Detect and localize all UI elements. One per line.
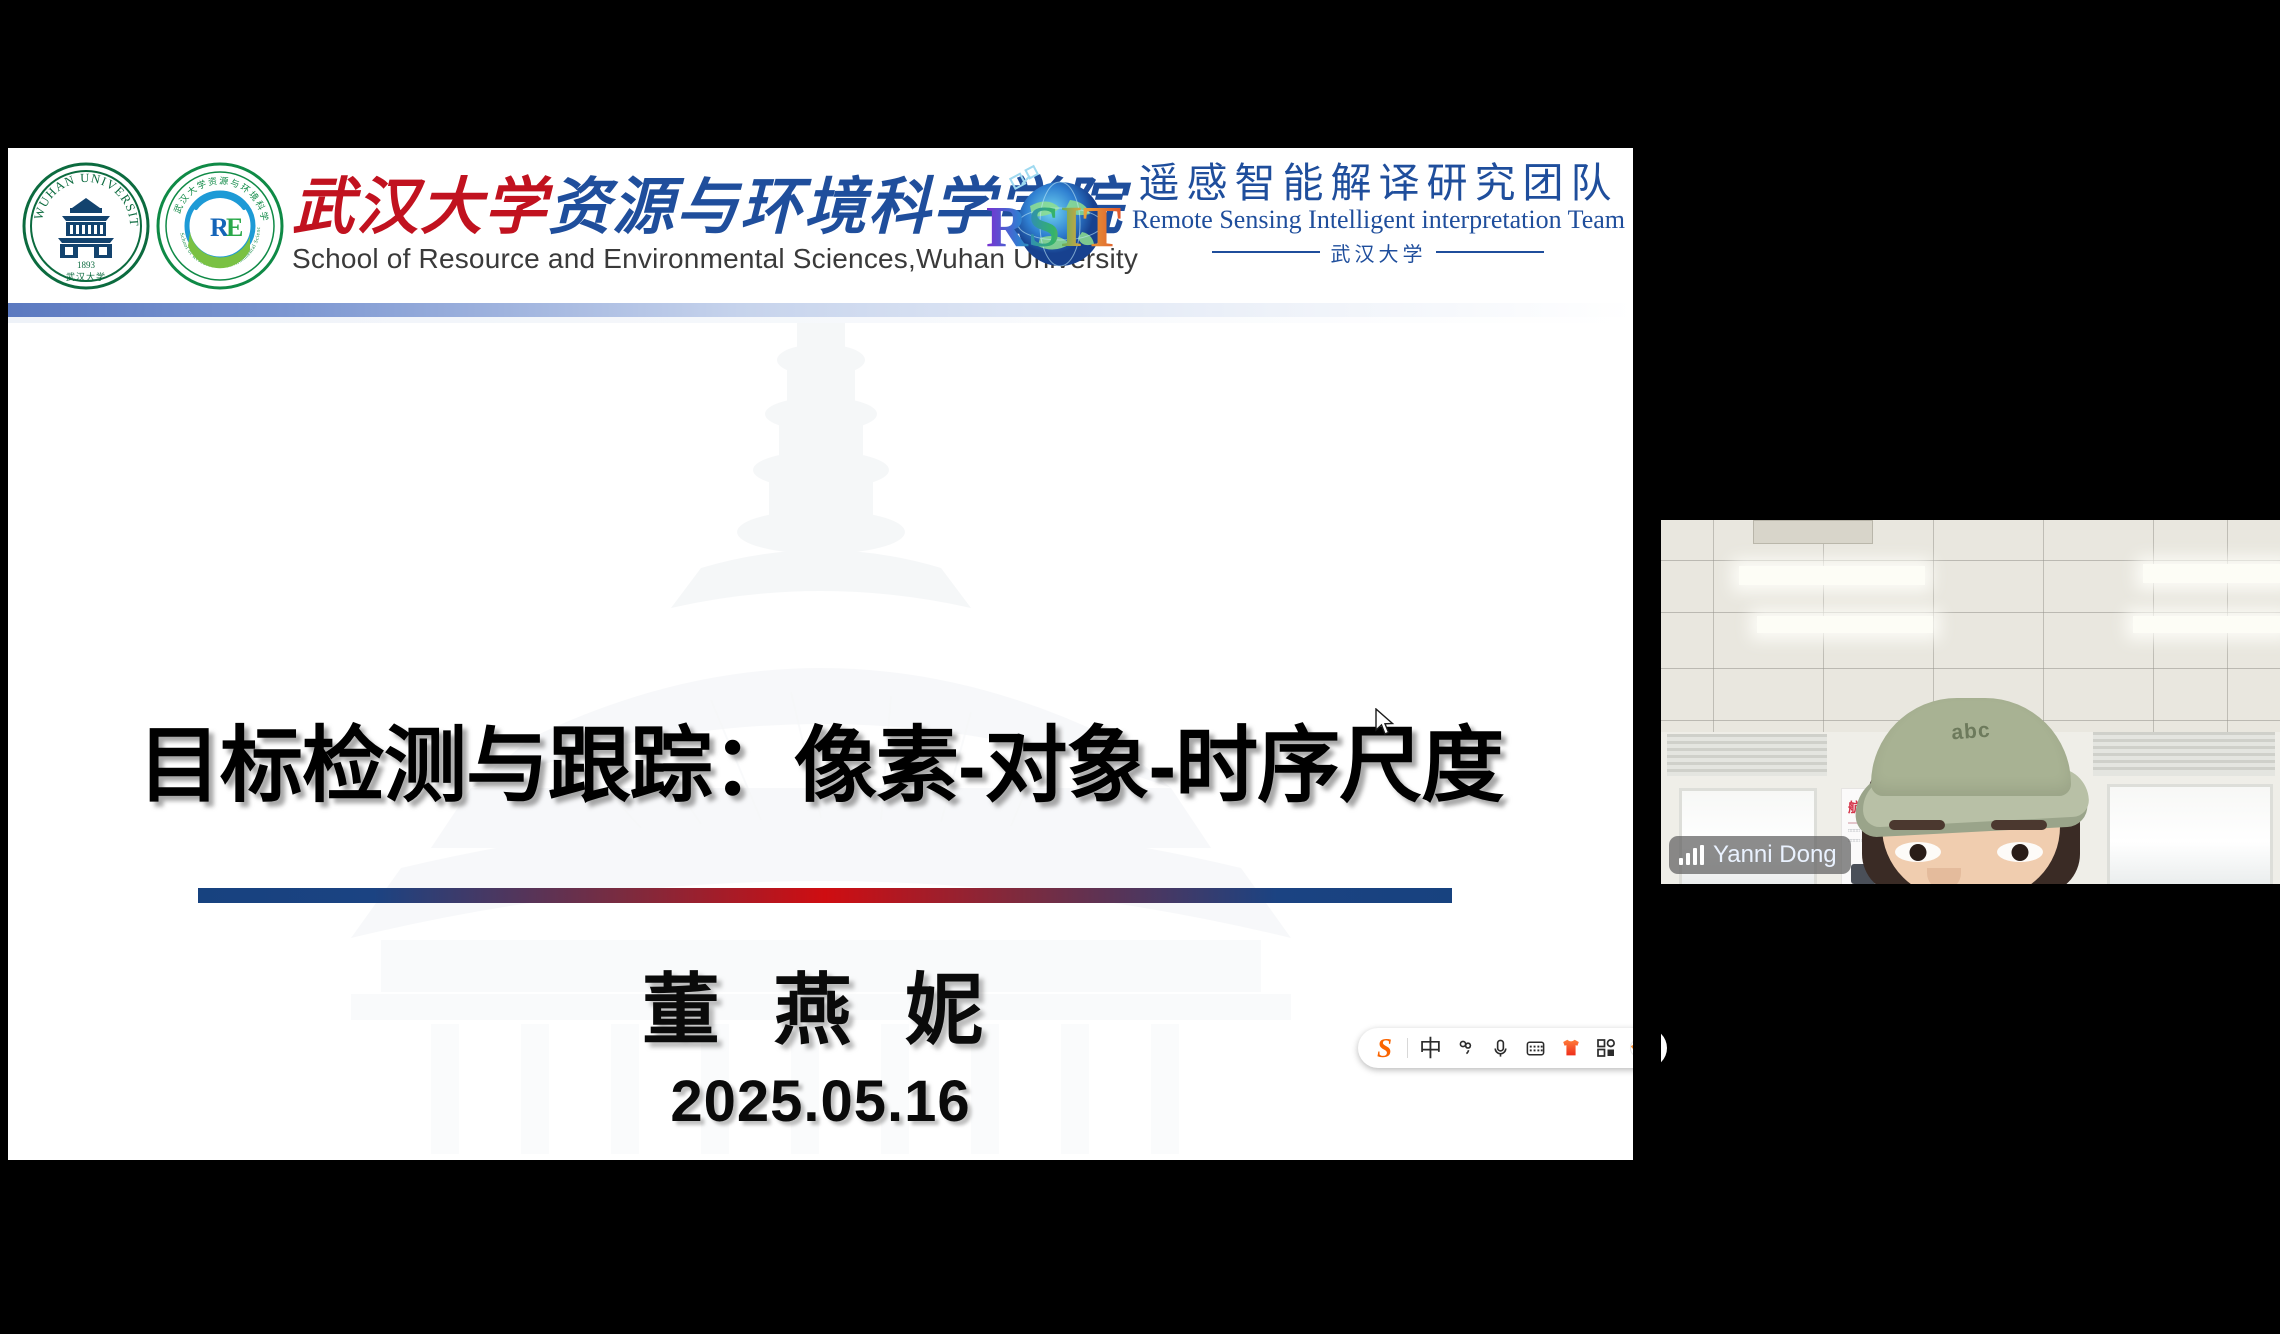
eye-right — [1997, 842, 2043, 862]
rsit-university: 武汉大学 — [1330, 238, 1426, 267]
participant-name: Yanni Dong — [1713, 841, 1837, 869]
eye-left — [1895, 842, 1941, 862]
slide-banner: WUHAN UNIVERSITY 1893 武汉大学 — [8, 148, 1633, 303]
participant-video-tile[interactable]: 航天系列讲座 □□□□ □□□□□ □□□□ □□□□ □□□□ □□□□□ a… — [1661, 520, 2280, 884]
participant-figure: abc — [1661, 520, 2280, 884]
banner-underline-secondary — [8, 317, 1633, 323]
punctuation-mode-button[interactable] — [1449, 1032, 1482, 1065]
eyebrow-left — [1889, 820, 1945, 830]
pane-divider[interactable] — [1633, 148, 1661, 1160]
school-name-cn-red: 武汉大学 — [292, 174, 548, 242]
screen-share-stage: WUHAN UNIVERSITY 1893 武汉大学 — [0, 0, 2280, 1334]
rsit-rule-left — [1212, 251, 1320, 253]
voice-input-button[interactable] — [1484, 1032, 1517, 1065]
sogou-logo-button[interactable]: S — [1368, 1032, 1401, 1065]
svg-text:E: E — [226, 213, 243, 242]
rsit-team-logo: RSIT 遥感智能解译研究团队 Remote Sensing Intellige… — [978, 162, 1625, 280]
participant-name-badge: Yanni Dong — [1669, 836, 1851, 874]
sogou-ime-toolbar[interactable]: S 中 — [1358, 1028, 1667, 1068]
keyboard-icon — [1525, 1038, 1546, 1059]
svg-text:RSIT: RSIT — [986, 194, 1121, 259]
nose — [1927, 868, 1961, 884]
language-mode-button[interactable]: 中 — [1414, 1032, 1447, 1065]
banner-underline — [8, 303, 1633, 317]
skin-button[interactable] — [1554, 1032, 1587, 1065]
tshirt-icon — [1560, 1037, 1582, 1059]
rsit-name-cn: 遥感智能解译研究团队 — [1138, 162, 1618, 205]
rsit-name-en: Remote Sensing Intelligent interpretatio… — [1132, 205, 1625, 235]
baseball-cap: abc — [1871, 698, 2071, 796]
rsit-rule-right — [1436, 251, 1544, 253]
slide-date: 2025.05.16 — [8, 1068, 1633, 1135]
audio-signal-bars-icon — [1679, 845, 1704, 865]
punctuation-icon — [1456, 1038, 1476, 1058]
title-divider-rule — [198, 888, 1452, 903]
shared-slide[interactable]: WUHAN UNIVERSITY 1893 武汉大学 — [8, 148, 1633, 1160]
rsit-text-block: 遥感智能解译研究团队 Remote Sensing Intelligent in… — [1132, 162, 1625, 267]
resource-environment-school-seal-icon: 武汉大学资源与环境科学学院 School of Resource and Env… — [156, 162, 284, 290]
cap-logo: abc — [1950, 719, 1991, 746]
toolbox-button[interactable] — [1589, 1032, 1622, 1065]
eyebrow-right — [1991, 820, 2047, 830]
slide-title: 目标检测与跟踪：像素-对象-时序尺度 — [8, 698, 1633, 818]
language-mode-label: 中 — [1419, 1037, 1442, 1060]
wuhan-university-seal-icon: WUHAN UNIVERSITY 1893 武汉大学 — [22, 162, 150, 290]
rsit-globe-icon: RSIT — [978, 162, 1128, 280]
microphone-icon — [1490, 1038, 1511, 1059]
svg-text:1893: 1893 — [77, 260, 96, 270]
svg-text:武汉大学: 武汉大学 — [66, 271, 106, 282]
ime-separator — [1407, 1038, 1408, 1058]
app-grid-icon — [1596, 1038, 1616, 1058]
soft-keyboard-button[interactable] — [1519, 1032, 1552, 1065]
sogou-logo-label: S — [1377, 1035, 1392, 1062]
rsit-university-row: 武汉大学 — [1212, 238, 1544, 267]
